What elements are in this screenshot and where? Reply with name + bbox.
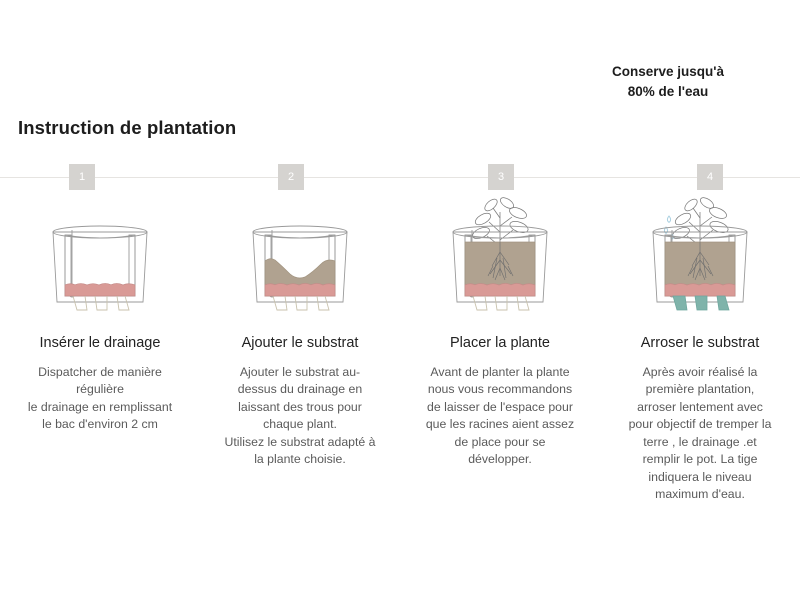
step-3-illustration: [435, 196, 565, 316]
stepper-badges: 1 2 3 4: [0, 164, 800, 190]
step-4-description: Après avoir réalisé la première plantati…: [612, 364, 788, 504]
planter-with-plant-icon: [435, 196, 565, 316]
page-title: Instruction de plantation: [18, 117, 236, 139]
drainage-layer: [265, 283, 335, 296]
step-3-title: Placer la plante: [450, 334, 550, 353]
step-column-4: Arroser le substrat Après avoir réalisé …: [600, 196, 800, 503]
drainage-layer: [465, 283, 535, 296]
water-reservoir: [673, 296, 729, 310]
drainage-layer: [665, 283, 735, 296]
step-badge-3[interactable]: 3: [488, 164, 514, 190]
step-column-1: Insérer le drainage Dispatcher de manièr…: [0, 196, 200, 503]
water-saving-tagline: Conserve jusqu'à 80% de l'eau: [568, 62, 768, 101]
step-3-description: Avant de planter la plante nous vous rec…: [412, 364, 588, 469]
step-badge-4[interactable]: 4: [697, 164, 723, 190]
step-1-title: Insérer le drainage: [40, 334, 161, 353]
planter-with-drainage-icon: [35, 216, 165, 316]
step-column-2: Ajouter le substrat Ajouter le substrat …: [200, 196, 400, 503]
tagline-line-2: 80% de l'eau: [568, 82, 768, 102]
step-1-description: Dispatcher de manière régulière le drain…: [12, 364, 188, 434]
step-column-3: Placer la plante Avant de planter la pla…: [400, 196, 600, 503]
planter-watered-icon: [635, 196, 765, 316]
drainage-layer: [65, 283, 135, 296]
step-badge-1[interactable]: 1: [69, 164, 95, 190]
step-1-illustration: [35, 196, 165, 316]
steps-columns: Insérer le drainage Dispatcher de manièr…: [0, 196, 800, 503]
step-2-title: Ajouter le substrat: [242, 334, 359, 353]
step-4-title: Arroser le substrat: [641, 334, 759, 353]
step-4-illustration: [635, 196, 765, 316]
step-badge-2[interactable]: 2: [278, 164, 304, 190]
planter-with-substrate-icon: [235, 216, 365, 316]
tagline-line-1: Conserve jusqu'à: [568, 62, 768, 82]
step-2-description: Ajouter le substrat au- dessus du draina…: [212, 364, 388, 469]
step-2-illustration: [235, 196, 365, 316]
